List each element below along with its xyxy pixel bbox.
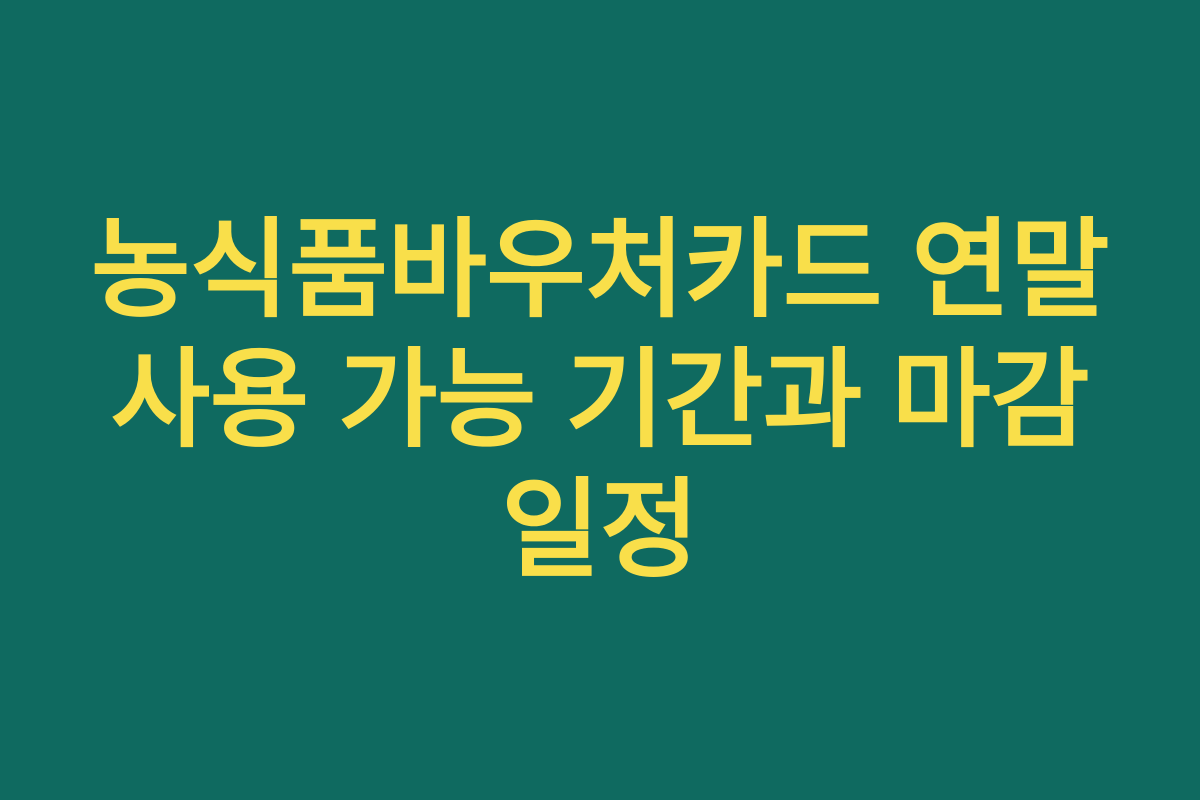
title-line-1: 농식품바우처카드 연말 (70, 205, 1130, 335)
page-title: 농식품바우처카드 연말 사용 가능 기간과 마감 일정 (70, 205, 1130, 595)
title-line-2: 사용 가능 기간과 마감 (70, 335, 1130, 465)
title-line-3: 일정 (70, 465, 1130, 595)
title-banner: 농식품바우처카드 연말 사용 가능 기간과 마감 일정 (0, 0, 1200, 800)
